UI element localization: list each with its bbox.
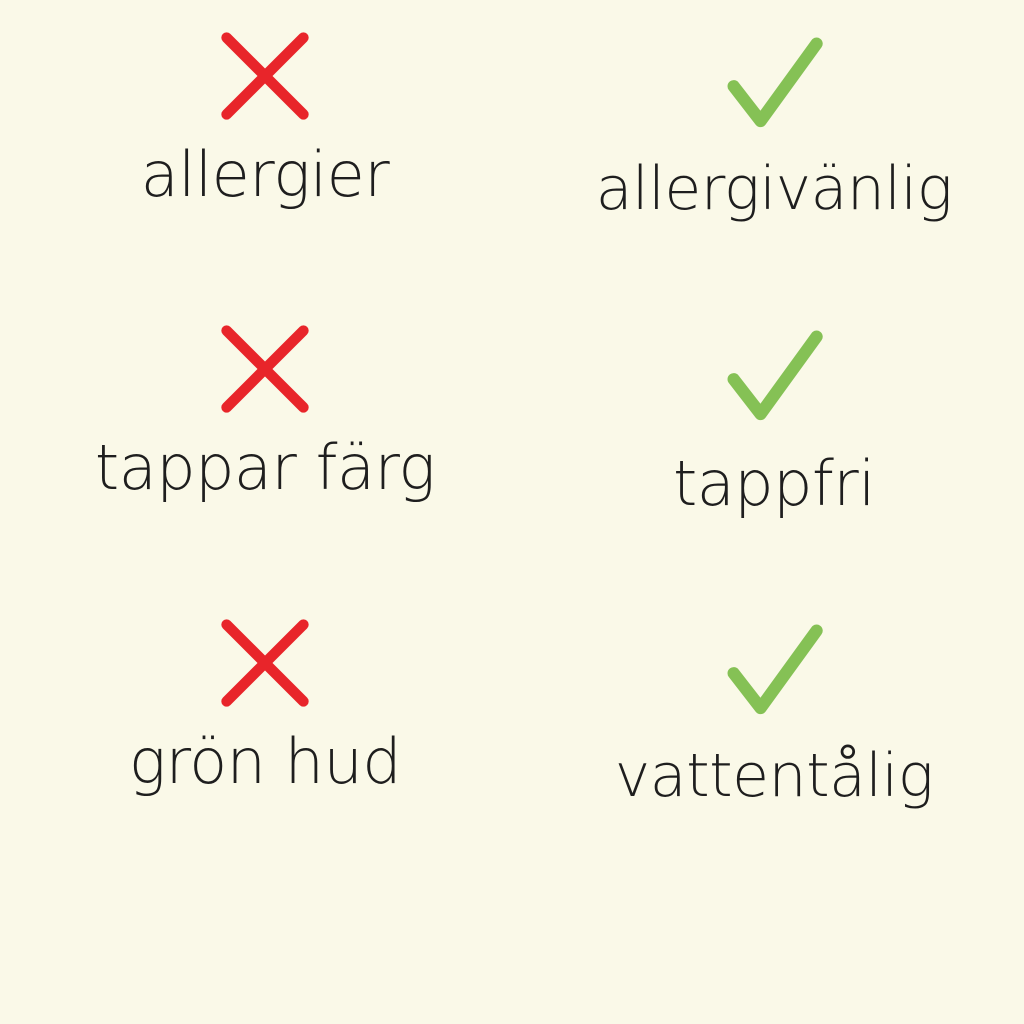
comparison-cell-positive-1: allergivänlig [512,0,1024,293]
check-icon [718,615,830,727]
comparison-label-positive-1: allergivänlig [596,158,952,221]
cross-icon [217,615,313,711]
comparison-cell-positive-2: tappfri [512,293,1024,586]
comparison-label-positive-2: tappfri [673,451,875,516]
comparison-poster: allergier allergivänlig tappar färg tapp… [0,0,1024,1024]
check-icon [718,321,830,433]
comparison-cell-negative-2: tappar färg [0,293,512,586]
comparison-label-negative-3: grön hud [129,729,401,794]
comparison-label-negative-2: tappar färg [95,435,435,500]
comparison-label-negative-1: allergier [141,142,390,207]
comparison-cell-negative-1: allergier [0,0,512,293]
cross-icon [217,28,313,124]
comparison-label-positive-3: vattentålig [615,745,933,808]
comparison-cell-positive-3: vattentålig [512,587,1024,880]
check-icon [718,28,830,140]
cross-icon [217,321,313,417]
comparison-cell-negative-3: grön hud [0,587,512,880]
comparison-grid: allergier allergivänlig tappar färg tapp… [0,0,1024,880]
